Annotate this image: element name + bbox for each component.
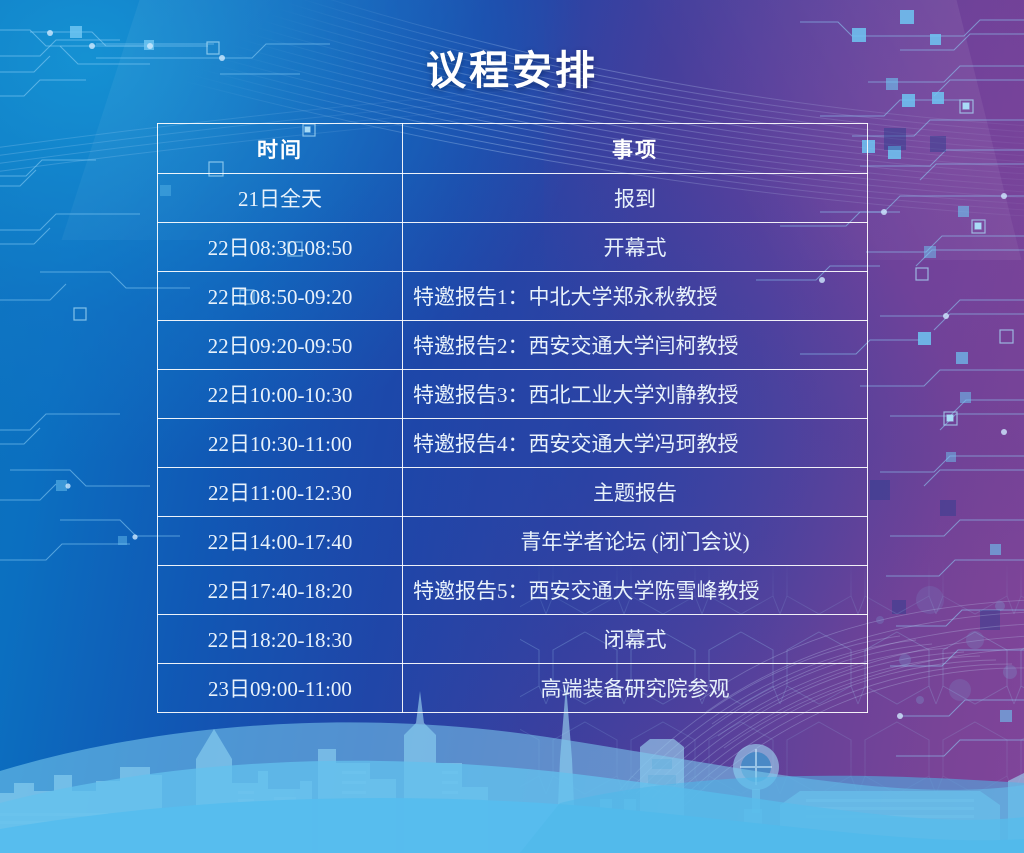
cell-time: 22日09:20-09:50: [158, 321, 403, 370]
page-title: 议程安排: [0, 38, 1024, 96]
cell-item: 特邀报告4：西安交通大学冯珂教授: [403, 419, 868, 468]
cell-time: 22日11:00-12:30: [158, 468, 403, 517]
cell-time: 22日14:00-17:40: [158, 517, 403, 566]
table-row: 22日10:00-10:30特邀报告3：西北工业大学刘静教授: [158, 370, 868, 419]
table-row: 22日18:20-18:30闭幕式: [158, 615, 868, 664]
agenda-table: 时间 事项 21日全天报到22日08:30-08:50开幕式22日08:50-0…: [157, 123, 868, 713]
column-header-item: 事项: [403, 124, 868, 174]
cell-time: 23日09:00-11:00: [158, 664, 403, 713]
table-header-row: 时间 事项: [158, 124, 868, 174]
cell-time: 22日08:50-09:20: [158, 272, 403, 321]
cell-item: 报到: [403, 174, 868, 223]
table-row: 22日08:30-08:50开幕式: [158, 223, 868, 272]
cell-time: 22日08:30-08:50: [158, 223, 403, 272]
table-row: 22日10:30-11:00特邀报告4：西安交通大学冯珂教授: [158, 419, 868, 468]
column-header-time: 时间: [158, 124, 403, 174]
table-row: 22日09:20-09:50特邀报告2：西安交通大学闫柯教授: [158, 321, 868, 370]
table-row: 22日11:00-12:30主题报告: [158, 468, 868, 517]
cell-time: 22日10:30-11:00: [158, 419, 403, 468]
cell-time: 22日18:20-18:30: [158, 615, 403, 664]
cell-item: 开幕式: [403, 223, 868, 272]
cell-item: 特邀报告1：中北大学郑永秋教授: [403, 272, 868, 321]
poster-canvas: 议程安排 时间 事项 21日全天报到22日08:30-08:50开幕式22日08…: [0, 0, 1024, 853]
cell-item: 特邀报告5：西安交通大学陈雪峰教授: [403, 566, 868, 615]
table-row: 23日09:00-11:00高端装备研究院参观: [158, 664, 868, 713]
cell-time: 22日10:00-10:30: [158, 370, 403, 419]
table-row: 22日14:00-17:40青年学者论坛 (闭门会议): [158, 517, 868, 566]
cell-time: 22日17:40-18:20: [158, 566, 403, 615]
cell-item: 闭幕式: [403, 615, 868, 664]
cell-item: 主题报告: [403, 468, 868, 517]
agenda-table-body: 21日全天报到22日08:30-08:50开幕式22日08:50-09:20特邀…: [158, 174, 868, 713]
cell-time: 21日全天: [158, 174, 403, 223]
agenda-table-container: 时间 事项 21日全天报到22日08:30-08:50开幕式22日08:50-0…: [157, 123, 867, 710]
cell-item: 高端装备研究院参观: [403, 664, 868, 713]
cell-item: 青年学者论坛 (闭门会议): [403, 517, 868, 566]
table-row: 22日08:50-09:20特邀报告1：中北大学郑永秋教授: [158, 272, 868, 321]
cell-item: 特邀报告3：西北工业大学刘静教授: [403, 370, 868, 419]
table-row: 22日17:40-18:20特邀报告5：西安交通大学陈雪峰教授: [158, 566, 868, 615]
cell-item: 特邀报告2：西安交通大学闫柯教授: [403, 321, 868, 370]
table-row: 21日全天报到: [158, 174, 868, 223]
